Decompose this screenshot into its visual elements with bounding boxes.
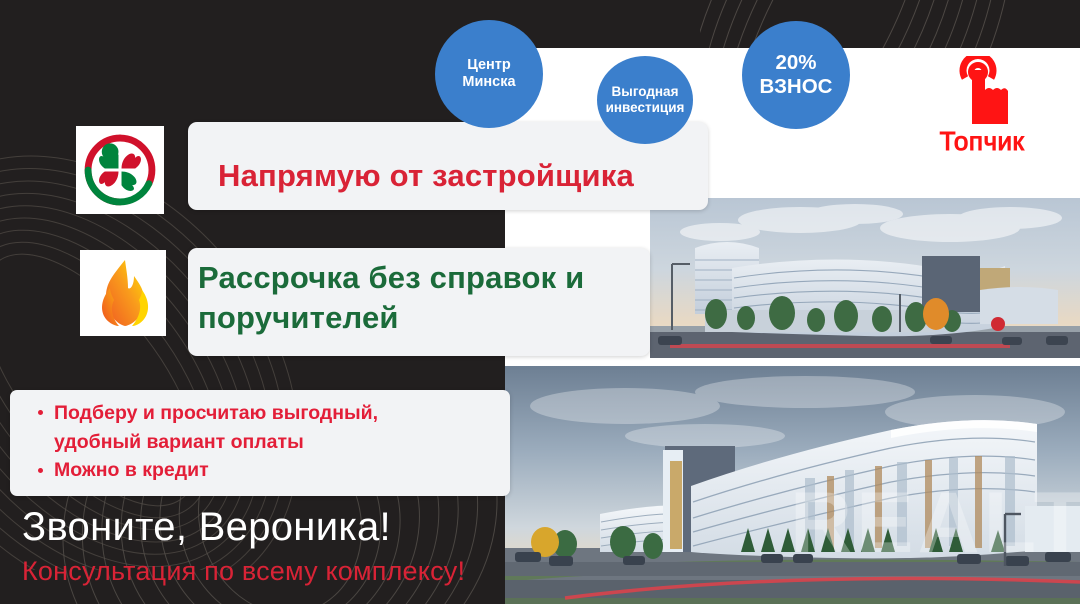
clover-hearts-logo [76, 126, 164, 214]
badge-down-payment[interactable]: 20% ВЗНОС [742, 21, 850, 129]
badge-line-2: инвестиция [606, 100, 685, 116]
headline-installment-plan: Рассрочка без справок и поручителей [198, 258, 668, 337]
cta-subheadline: Консультация по всему комплексу! [22, 556, 465, 587]
benefits-list: Подберу и просчитаю выгодный, удобный ва… [36, 400, 506, 486]
badge-line-1: Выгодная [606, 84, 685, 100]
badge-line-1: 20% [760, 51, 833, 75]
clover-hearts-icon [82, 132, 158, 208]
tap-hand-icon [951, 56, 1013, 128]
cta-headline: Звоните, Вероника! [22, 505, 391, 550]
badge-good-investment[interactable]: Выгодная инвестиция [597, 56, 693, 144]
list-item-continuation: удобный вариант оплаты [36, 429, 506, 457]
bullet-dot-icon [38, 410, 43, 415]
badge-line-2: ВЗНОС [760, 75, 833, 99]
list-item-label: Можно в кредит [54, 459, 209, 481]
flame-logo [80, 250, 166, 336]
brand-wordmark: Топчик [940, 126, 1025, 157]
badge-line-1: Центр [462, 57, 515, 74]
badge-center-minsk[interactable]: Центр Минска [435, 20, 543, 128]
list-item: Можно в кредит [36, 457, 506, 485]
photo-residential-complex-dusk [650, 198, 1080, 358]
promo-banner: REALT Напрямую от застройщика Рассрочка … [0, 0, 1080, 604]
badge-line-2: Минска [462, 74, 515, 91]
list-item-label: удобный вариант оплаты [54, 431, 304, 453]
photo-residential-complex-wide: REALT [505, 366, 1080, 604]
brand-topchik: Топчик [912, 52, 1052, 172]
flame-icon [92, 258, 154, 328]
headline-direct-from-developer: Напрямую от застройщика [218, 158, 634, 194]
list-item: Подберу и просчитаю выгодный, [36, 400, 506, 428]
bullet-dot-icon [38, 468, 43, 473]
list-item-label: Подберу и просчитаю выгодный, [54, 402, 378, 424]
